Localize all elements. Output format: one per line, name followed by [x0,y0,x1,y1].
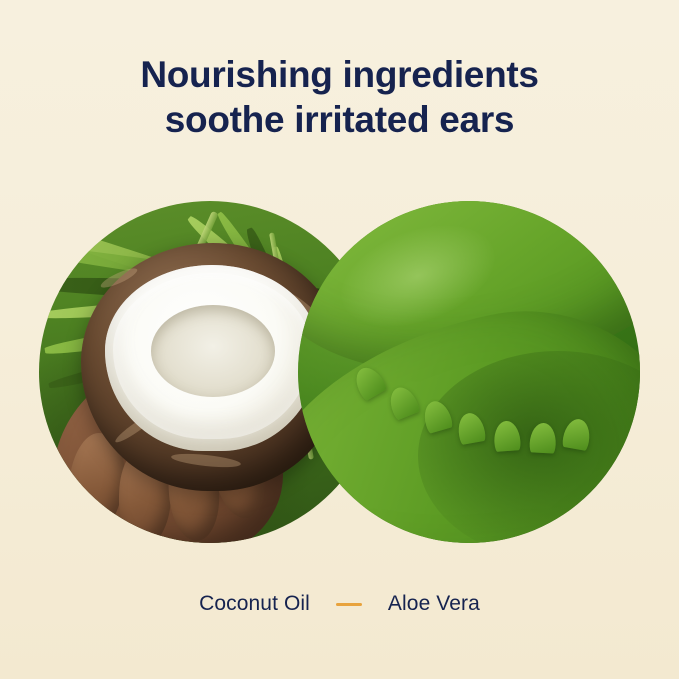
page-title: Nourishing ingredients soothe irritated … [0,52,679,142]
ingredient-captions: Coconut Oil Aloe Vera [0,592,679,616]
ingredient-images [0,196,679,551]
headline-line-2: soothe irritated ears [0,97,679,142]
caption-separator-icon [336,603,362,606]
caption-coconut-oil: Coconut Oil [199,592,310,616]
caption-aloe-vera: Aloe Vera [388,592,480,616]
shell-fiber [171,451,242,469]
coconut-hollow [151,305,275,397]
coconut-flesh [105,265,319,451]
ingredient-poster: Nourishing ingredients soothe irritated … [0,0,679,679]
aloe-photo [298,201,640,543]
headline-line-1: Nourishing ingredients [0,52,679,97]
